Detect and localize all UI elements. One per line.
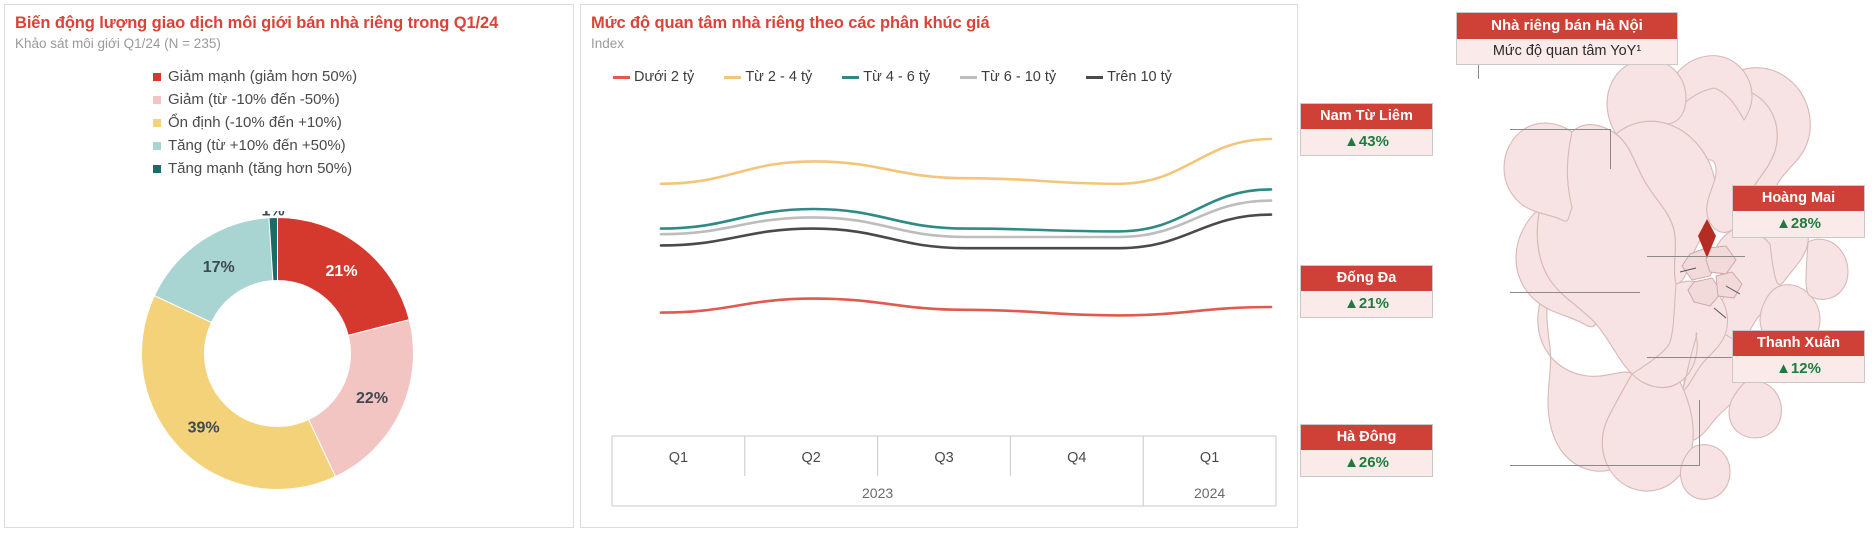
leader-line — [1647, 256, 1745, 257]
legend-item[interactable]: Từ 4 - 6 tỷ — [842, 69, 930, 85]
district-value: ▲43% — [1301, 129, 1432, 155]
leader-line — [1699, 400, 1700, 466]
xaxis-svg: Q1Q2Q3Q4Q120232024 — [604, 430, 1284, 510]
legend-item[interactable]: Từ 6 - 10 tỷ — [960, 69, 1056, 85]
line-chart-xaxis: Q1Q2Q3Q4Q120232024 — [604, 430, 1284, 510]
legend-item[interactable]: Tăng (từ +10% đến +50%) — [153, 134, 573, 157]
hanoi-map-icon — [1464, 40, 1868, 510]
legend-item[interactable]: Giảm mạnh (giảm hơn 50%) — [153, 65, 573, 88]
legend-swatch-icon — [153, 73, 161, 81]
map-title-sub: Mức độ quan tâm YoY¹ — [1457, 39, 1677, 64]
legend-line-icon — [1086, 76, 1103, 79]
leader-line — [1610, 129, 1611, 169]
legend-swatch-icon — [153, 96, 161, 104]
svg-text:22%: 22% — [356, 390, 388, 407]
line-panel-title: Mức độ quan tâm nhà riêng theo các phân … — [581, 5, 1297, 33]
svg-text:1%: 1% — [262, 211, 285, 220]
donut-legend: Giảm mạnh (giảm hơn 50%) Giảm (từ -10% đ… — [153, 65, 573, 180]
district-value: ▲12% — [1733, 356, 1864, 382]
legend-item[interactable]: Tăng mạnh (tăng hơn 50%) — [153, 157, 573, 180]
map-title-head: Nhà riêng bán Hà Nội — [1457, 13, 1677, 39]
donut-chart-svg: 21%22%39%17%1% — [135, 211, 420, 496]
legend-line-icon — [613, 76, 630, 79]
district-name: Hoàng Mai — [1733, 186, 1864, 211]
legend-label: Từ 2 - 4 tỷ — [745, 69, 812, 85]
district-name: Nam Từ Liêm — [1301, 104, 1432, 129]
svg-text:Q1: Q1 — [669, 450, 688, 466]
legend-line-icon — [842, 76, 859, 79]
svg-text:2024: 2024 — [1194, 485, 1225, 501]
legend-swatch-icon — [153, 142, 161, 150]
legend-item[interactable]: Từ 2 - 4 tỷ — [724, 69, 812, 85]
legend-item[interactable]: Trên 10 tỷ — [1086, 69, 1172, 85]
donut-panel: Biến động lượng giao dịch môi giới bán n… — [4, 4, 574, 528]
leader-line — [1647, 357, 1745, 358]
map-title-callout: Nhà riêng bán Hà Nội Mức độ quan tâm YoY… — [1456, 12, 1678, 65]
legend-label: Giảm mạnh (giảm hơn 50%) — [168, 68, 357, 85]
district-value: ▲28% — [1733, 211, 1864, 237]
line-legend: Dưới 2 tỷ Từ 2 - 4 tỷ Từ 4 - 6 tỷ Từ 6 -… — [613, 69, 1297, 85]
donut-panel-title: Biến động lượng giao dịch môi giới bán n… — [5, 5, 573, 33]
legend-label: Trên 10 tỷ — [1107, 69, 1172, 85]
svg-text:2023: 2023 — [862, 485, 893, 501]
leader-line — [1510, 129, 1610, 130]
district-value: ▲26% — [1301, 450, 1432, 476]
legend-label: Ổn định (-10% đến +10%) — [168, 114, 342, 131]
svg-text:Q1: Q1 — [1200, 450, 1219, 466]
legend-label: Giảm (từ -10% đến -50%) — [168, 91, 340, 108]
legend-item[interactable]: Dưới 2 tỷ — [613, 69, 694, 85]
legend-label: Dưới 2 tỷ — [634, 69, 694, 85]
leader-line — [1510, 465, 1700, 466]
district-callout-dong-da[interactable]: Đống Đa ▲21% — [1300, 265, 1433, 318]
legend-swatch-icon — [153, 119, 161, 127]
district-name: Thanh Xuân — [1733, 331, 1864, 356]
legend-label: Từ 6 - 10 tỷ — [981, 69, 1056, 85]
map-panel: Nhà riêng bán Hà Nội Mức độ quan tâm YoY… — [1298, 0, 1868, 536]
legend-label: Tăng (từ +10% đến +50%) — [168, 137, 346, 154]
legend-swatch-icon — [153, 165, 161, 173]
leader-line — [1510, 292, 1640, 293]
district-name: Hà Đông — [1301, 425, 1432, 450]
donut-chart: 21%22%39%17%1% — [135, 211, 420, 496]
district-callout-thanh-xuan[interactable]: Thanh Xuân ▲12% — [1732, 330, 1865, 383]
line-plot-area — [581, 101, 1297, 431]
district-value: ▲21% — [1301, 291, 1432, 317]
line-panel-subtitle: Index — [581, 33, 1297, 51]
svg-text:21%: 21% — [326, 263, 358, 280]
legend-label: Từ 4 - 6 tỷ — [863, 69, 930, 85]
legend-item[interactable]: Giảm (từ -10% đến -50%) — [153, 88, 573, 111]
donut-panel-subtitle: Khảo sát môi giới Q1/24 (N = 235) — [5, 33, 573, 51]
svg-text:17%: 17% — [203, 259, 235, 276]
legend-item[interactable]: Ổn định (-10% đến +10%) — [153, 111, 573, 134]
svg-text:39%: 39% — [188, 419, 220, 436]
svg-text:Q3: Q3 — [934, 450, 953, 466]
district-name: Đống Đa — [1301, 266, 1432, 291]
district-callout-nam-tu-liem[interactable]: Nam Từ Liêm ▲43% — [1300, 103, 1433, 156]
district-callout-ha-dong[interactable]: Hà Đông ▲26% — [1300, 424, 1433, 477]
district-callout-hoang-mai[interactable]: Hoàng Mai ▲28% — [1732, 185, 1865, 238]
line-chart-svg — [581, 101, 1297, 431]
svg-text:Q4: Q4 — [1067, 450, 1086, 466]
legend-line-icon — [724, 76, 741, 79]
legend-label: Tăng mạnh (tăng hơn 50%) — [168, 160, 352, 177]
svg-text:Q2: Q2 — [802, 450, 821, 466]
dashboard: Biến động lượng giao dịch môi giới bán n… — [0, 0, 1872, 536]
legend-line-icon — [960, 76, 977, 79]
